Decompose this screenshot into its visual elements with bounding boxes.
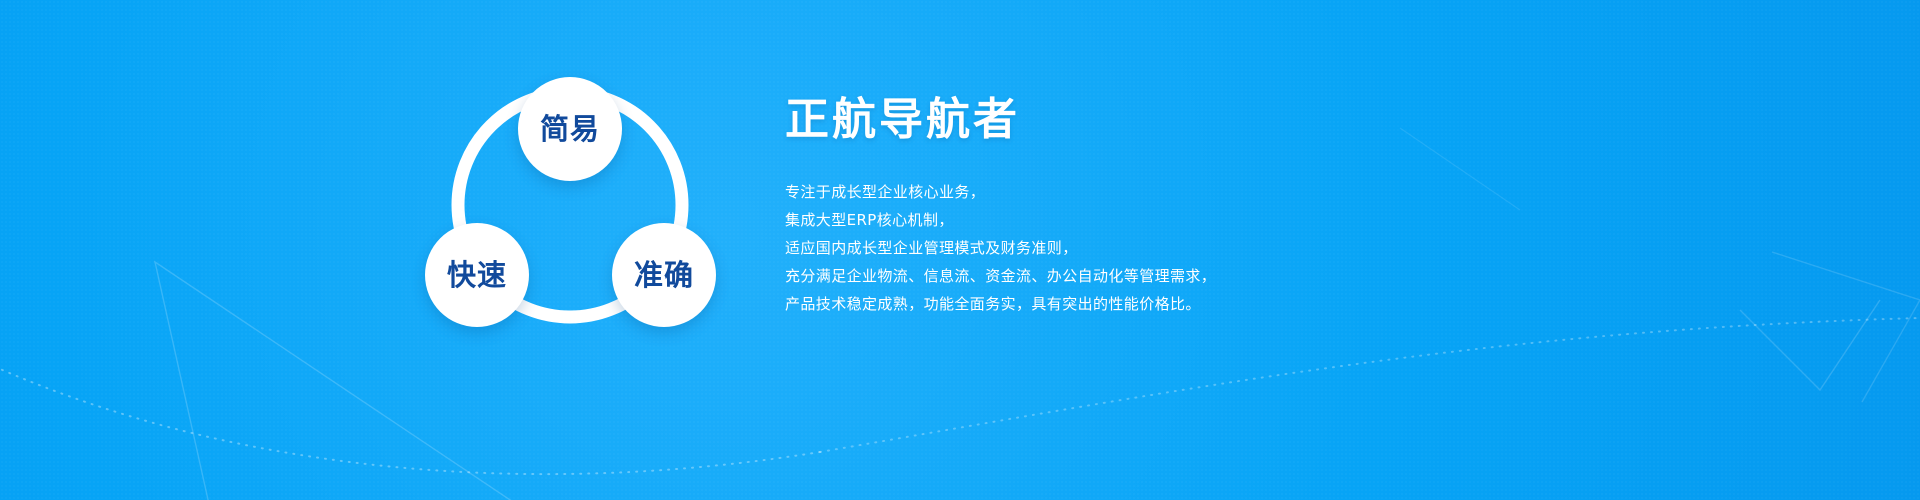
copy-block: 正航导航者 专注于成长型企业核心业务， 集成大型ERP核心机制， 适应国内成长型… xyxy=(785,95,1605,318)
pillar-label-simple: 简易 xyxy=(540,115,600,144)
headline: 正航导航者 xyxy=(785,95,1605,146)
description-line: 专注于成长型企业核心业务， xyxy=(785,178,1605,206)
banner-stage: 简易 快速 准确 正航导航者 专注于成长型企业核心业务， 集成大型ERP核心机制… xyxy=(0,0,1920,500)
promo-banner: 简易 快速 准确 正航导航者 专注于成长型企业核心业务， 集成大型ERP核心机制… xyxy=(0,0,1920,500)
description-line: 适应国内成长型企业管理模式及财务准则， xyxy=(785,234,1605,262)
description-line: 集成大型ERP核心机制， xyxy=(785,206,1605,234)
three-pillar-diagram: 简易 快速 准确 xyxy=(400,55,780,415)
pillar-label-fast: 快速 xyxy=(447,261,507,290)
description-line: 充分满足企业物流、信息流、资金流、办公自动化等管理需求， xyxy=(785,262,1605,290)
pillar-node-accurate[interactable]: 准确 xyxy=(612,223,716,327)
pillar-label-accurate: 准确 xyxy=(634,261,694,290)
description-line: 产品技术稳定成熟，功能全面务实，具有突出的性能价格比。 xyxy=(785,290,1605,318)
pillar-node-simple[interactable]: 简易 xyxy=(518,77,622,181)
pillar-node-fast[interactable]: 快速 xyxy=(425,223,529,327)
description-list: 专注于成长型企业核心业务， 集成大型ERP核心机制， 适应国内成长型企业管理模式… xyxy=(785,178,1605,318)
